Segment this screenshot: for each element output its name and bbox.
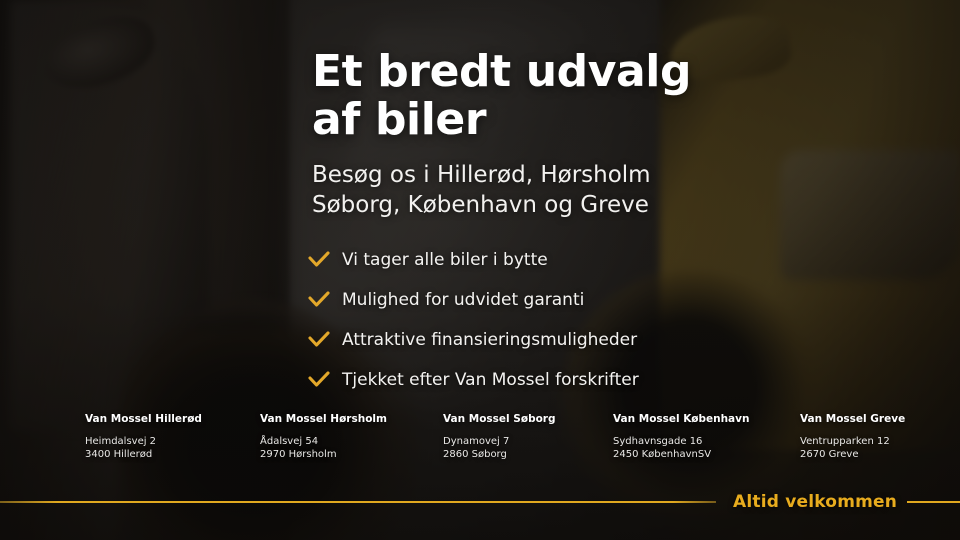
dealer-location: Van Mossel København Sydhavnsgade 16 245… (613, 412, 749, 461)
dealer-city: 2970 Hørsholm (260, 448, 387, 461)
dealer-location: Van Mossel Hørsholm Ådalsvej 54 2970 Hør… (260, 412, 387, 461)
headline-line-2: af biler (312, 96, 872, 144)
dealer-location: Van Mossel Greve Ventrupparken 12 2670 G… (800, 412, 905, 461)
footer-tagline: Altid velkommen (733, 491, 897, 513)
check-icon (308, 251, 342, 268)
dealer-name: Van Mossel Hørsholm (260, 412, 387, 426)
feature-item: Vi tager alle biler i bytte (308, 244, 888, 275)
feature-item: Attraktive finansieringsmuligheder (308, 324, 888, 355)
dealer-address: Dynamovej 7 2860 Søborg (443, 435, 556, 461)
dealer-city: 2670 Greve (800, 448, 905, 461)
dealer-street: Dynamovej 7 (443, 435, 556, 448)
dealer-locations: Van Mossel Hillerød Heimdalsvej 2 3400 H… (0, 412, 960, 472)
dealer-location: Van Mossel Søborg Dynamovej 7 2860 Søbor… (443, 412, 556, 461)
dealer-address: Ventrupparken 12 2670 Greve (800, 435, 905, 461)
subheadline: Besøg os i Hillerød, Hørsholm Søborg, Kø… (312, 160, 872, 220)
headline: Et bredt udvalg af biler (312, 48, 872, 144)
feature-label: Mulighed for udvidet garanti (342, 289, 584, 311)
footer-divider-left (0, 501, 716, 503)
dealer-name: Van Mossel Søborg (443, 412, 556, 426)
feature-label: Attraktive finansieringsmuligheder (342, 329, 637, 351)
feature-label: Tjekket efter Van Mossel forskrifter (342, 369, 639, 391)
headline-line-1: Et bredt udvalg (312, 48, 872, 96)
dealer-street: Heimdalsvej 2 (85, 435, 202, 448)
feature-label: Vi tager alle biler i bytte (342, 249, 548, 271)
dealer-city: 3400 Hillerød (85, 448, 202, 461)
subheadline-line-1: Besøg os i Hillerød, Hørsholm (312, 160, 872, 190)
footer-divider-right (907, 501, 960, 503)
dealer-address: Ådalsvej 54 2970 Hørsholm (260, 435, 387, 461)
dealer-address: Heimdalsvej 2 3400 Hillerød (85, 435, 202, 461)
dealer-address: Sydhavnsgade 16 2450 KøbenhavnSV (613, 435, 749, 461)
dealer-name: Van Mossel København (613, 412, 749, 426)
check-icon (308, 371, 342, 388)
dealer-city: 2860 Søborg (443, 448, 556, 461)
dealer-city: 2450 KøbenhavnSV (613, 448, 749, 461)
dealer-street: Ådalsvej 54 (260, 435, 387, 448)
feature-item: Tjekket efter Van Mossel forskrifter (308, 364, 888, 395)
advertisement-banner: Et bredt udvalg af biler Besøg os i Hill… (0, 0, 960, 540)
feature-list: Vi tager alle biler i bytte Mulighed for… (308, 244, 888, 404)
check-icon (308, 331, 342, 348)
check-icon (308, 291, 342, 308)
banner-content: Et bredt udvalg af biler Besøg os i Hill… (0, 0, 960, 540)
dealer-name: Van Mossel Greve (800, 412, 905, 426)
dealer-street: Ventrupparken 12 (800, 435, 905, 448)
dealer-name: Van Mossel Hillerød (85, 412, 202, 426)
subheadline-line-2: Søborg, København og Greve (312, 190, 872, 220)
dealer-location: Van Mossel Hillerød Heimdalsvej 2 3400 H… (85, 412, 202, 461)
dealer-street: Sydhavnsgade 16 (613, 435, 749, 448)
feature-item: Mulighed for udvidet garanti (308, 284, 888, 315)
